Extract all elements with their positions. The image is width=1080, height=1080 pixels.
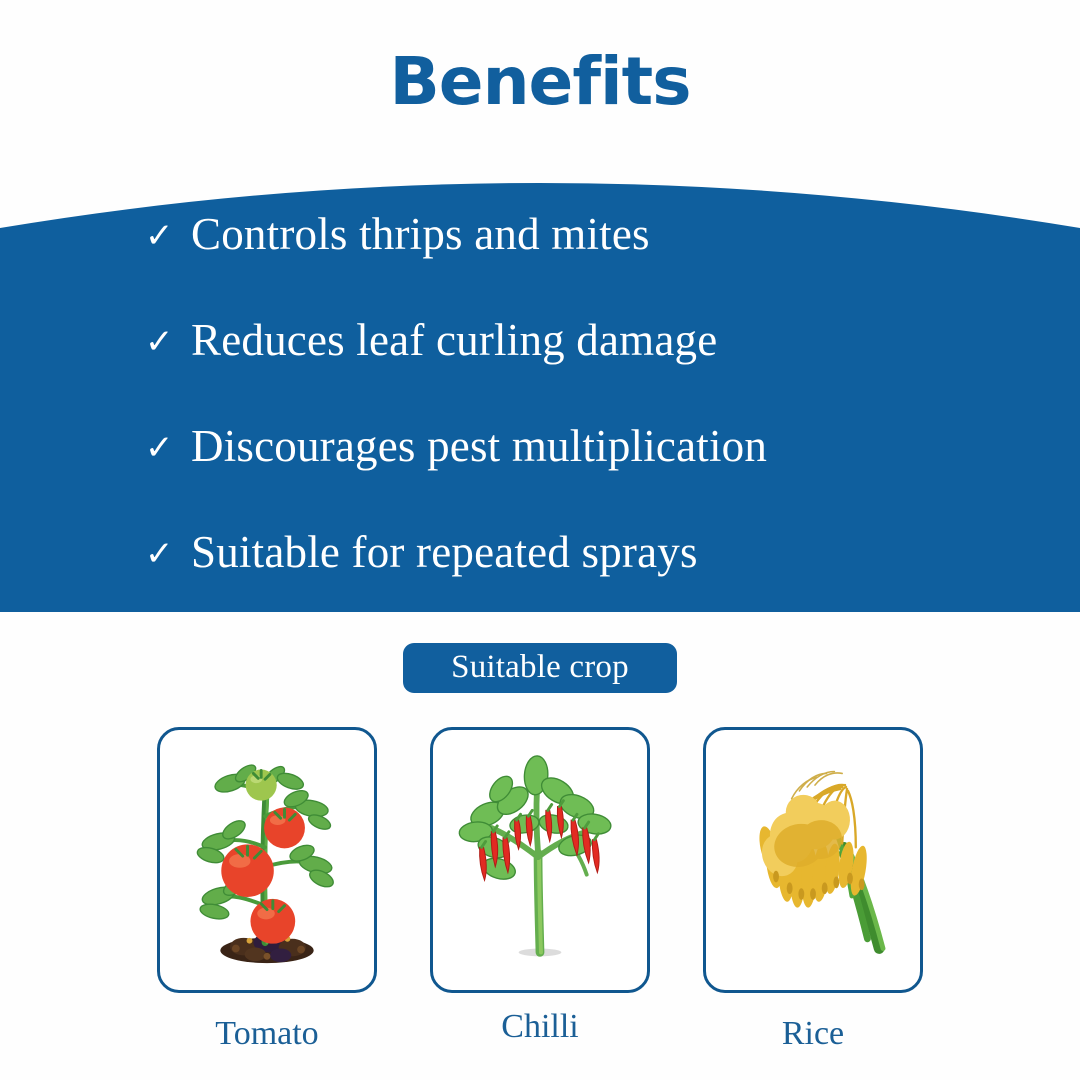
benefit-list: ✓ Controls thrips and mites ✓ Reduces le…: [0, 150, 1080, 612]
crop-label-rice: Rice: [703, 1017, 923, 1051]
suitable-crop-cards: Tomato Chilli Rice: [0, 727, 1080, 1007]
benefit-text: Reduces leaf curling damage: [191, 318, 717, 363]
crop-card-tomato[interactable]: [157, 727, 377, 993]
chilli-plant-icon: [433, 730, 647, 990]
benefit-text: Controls thrips and mites: [191, 212, 650, 257]
benefit-item-3: ✓ Suitable for repeated sprays: [0, 530, 1080, 575]
benefit-text: Suitable for repeated sprays: [191, 530, 698, 575]
benefits-banner: ✓ Controls thrips and mites ✓ Reduces le…: [0, 150, 1080, 612]
benefit-text: Discourages pest multiplication: [191, 424, 767, 469]
check-icon: ✓: [145, 537, 191, 571]
benefits-poster: Benefits ✓ Controls thrips and mites ✓ R…: [0, 0, 1080, 1080]
suitable-crop-badge-label: Suitable crop: [451, 651, 629, 684]
check-icon: ✓: [145, 431, 191, 465]
crop-label-tomato: Tomato: [157, 1017, 377, 1051]
check-icon: ✓: [145, 325, 191, 359]
benefit-item-0: ✓ Controls thrips and mites: [0, 212, 1080, 257]
rice-panicle-icon: [706, 730, 920, 990]
crop-label-chilli: Chilli: [430, 1010, 650, 1044]
suitable-crop-badge: Suitable crop: [403, 643, 677, 693]
tomato-plant-icon: [160, 730, 374, 990]
benefit-item-2: ✓ Discourages pest multiplication: [0, 424, 1080, 469]
check-icon: ✓: [145, 219, 191, 253]
crop-card-rice[interactable]: [703, 727, 923, 993]
benefit-item-1: ✓ Reduces leaf curling damage: [0, 318, 1080, 363]
page-title: Benefits: [0, 46, 1080, 119]
crop-card-chilli[interactable]: [430, 727, 650, 993]
